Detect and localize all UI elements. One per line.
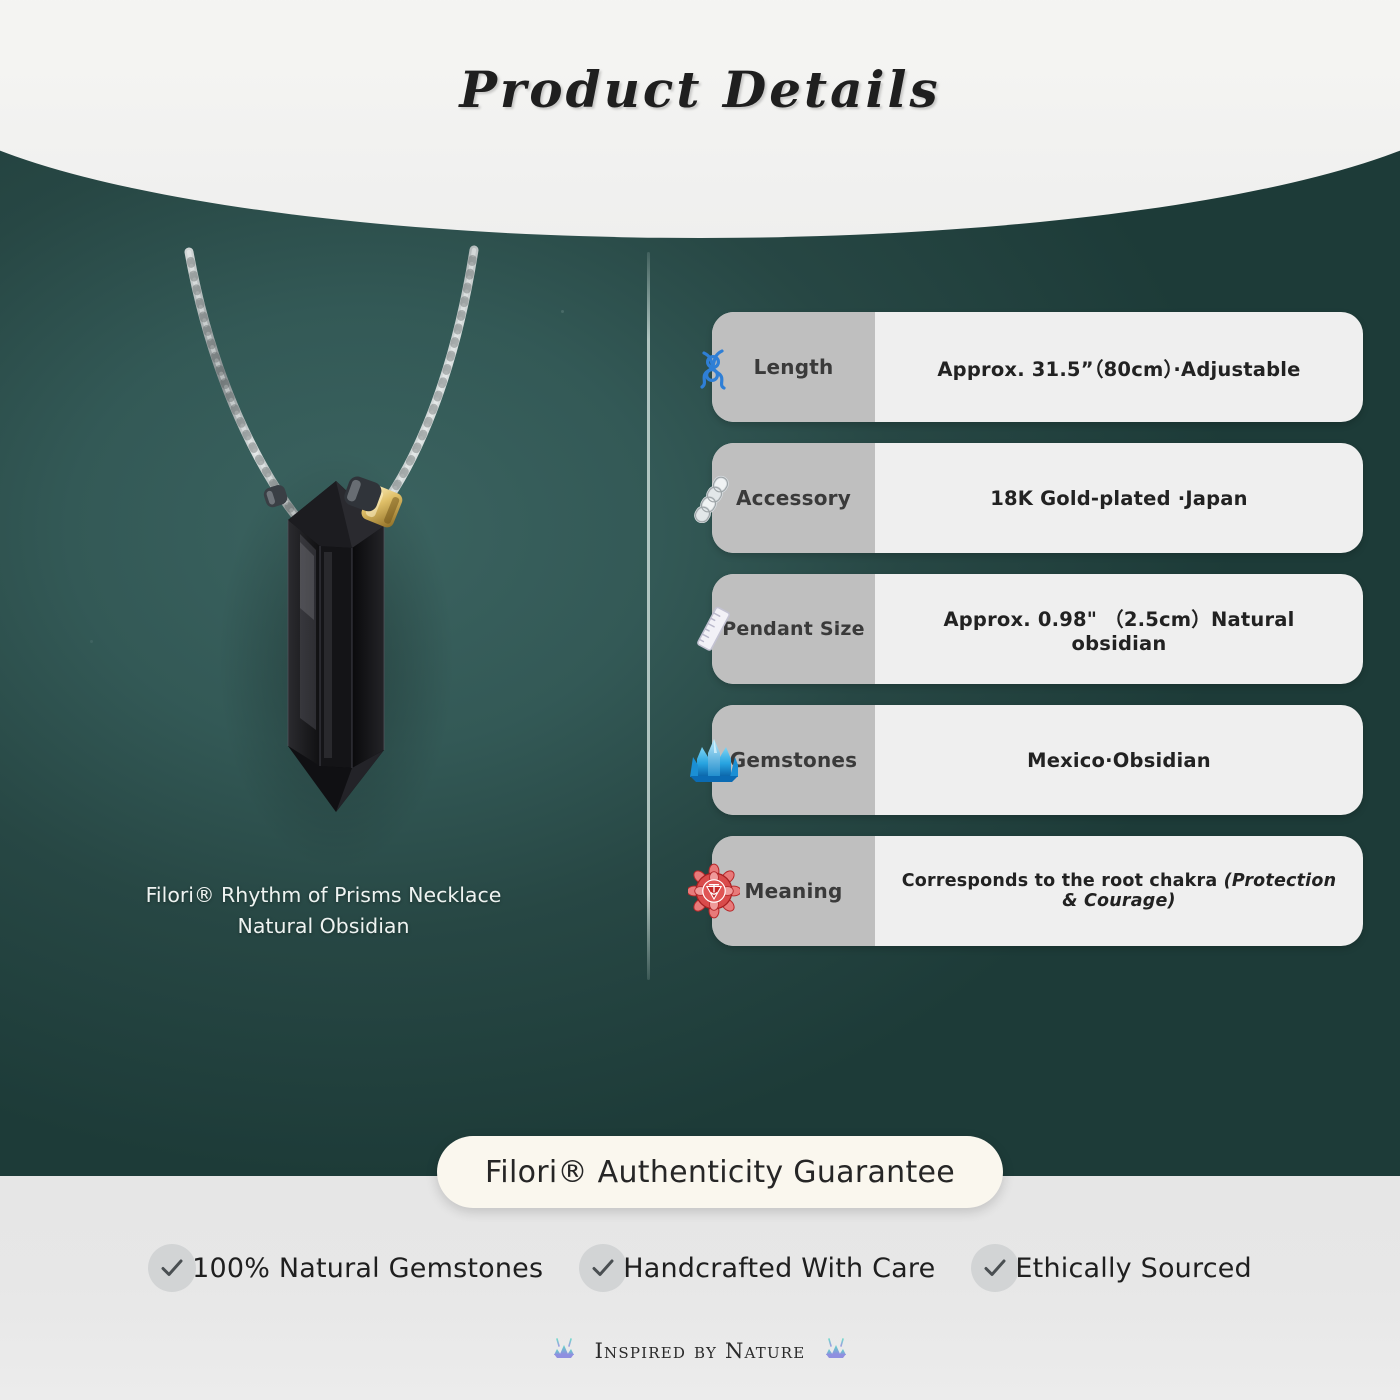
product-image-pane: Filori® Rhythm of Prisms Necklace Natura… (0, 190, 647, 990)
spec-row-meaning[interactable]: Meaning Corresponds to the root chakra (… (712, 836, 1363, 946)
product-caption: Filori® Rhythm of Prisms Necklace Natura… (0, 880, 647, 942)
caption-line-1: Filori® Rhythm of Prisms Necklace (0, 880, 647, 911)
spec-value: 18K Gold-plated ·Japan (990, 487, 1248, 510)
caption-line-2: Natural Obsidian (0, 911, 647, 942)
feature-label: Handcrafted With Care (623, 1253, 935, 1284)
vertical-divider (647, 252, 650, 980)
spec-row-gemstones[interactable]: Gemstones Mexico·Obsidian (712, 705, 1363, 815)
header-arc (0, 0, 1400, 238)
knot-cord-icon (688, 341, 740, 393)
feature-label: 100% Natural Gemstones (192, 1253, 543, 1284)
spec-row-accessory[interactable]: Accessory 18K Gold-plated ·Japan (712, 443, 1363, 553)
footer-label: Inspired by Nature (595, 1339, 806, 1363)
crystal-cluster-icon (688, 734, 740, 786)
footer: Inspired by Nature (0, 1336, 1400, 1366)
authenticity-banner[interactable]: Filori® Authenticity Guarantee (437, 1136, 1003, 1208)
feature-item: Ethically Sourced (971, 1244, 1252, 1292)
crystal-sprout-icon (821, 1336, 851, 1366)
check-icon (148, 1244, 196, 1292)
spec-value: Approx. 31.5”（80cm）·Adjustable (937, 353, 1300, 382)
feature-item: 100% Natural Gemstones (148, 1244, 543, 1292)
spec-label: Gemstones (730, 748, 858, 772)
feature-item: Handcrafted With Care (579, 1244, 935, 1292)
spec-value: Mexico·Obsidian (1027, 749, 1211, 772)
spec-row-pendant-size[interactable]: Pendant Size Approx. 0.98" （2.5cm）Natura… (712, 574, 1363, 684)
spec-value-block: 18K Gold-plated ·Japan (875, 443, 1363, 553)
check-icon (971, 1244, 1019, 1292)
spec-label: Meaning (744, 879, 842, 903)
spec-label: Length (754, 355, 834, 379)
spec-value: Corresponds to the root chakra (Protecti… (893, 871, 1345, 911)
root-chakra-icon (688, 865, 740, 917)
necklace-illustration (0, 190, 647, 910)
page-title: Product Details (0, 60, 1400, 119)
product-details-page: Filori® Rhythm of Prisms Necklace Natura… (0, 0, 1400, 1400)
check-icon (579, 1244, 627, 1292)
chain-link-icon (688, 472, 740, 524)
spec-row-length[interactable]: Length Approx. 31.5”（80cm）·Adjustable (712, 312, 1363, 422)
ruler-icon (688, 603, 740, 655)
spec-value-main: Corresponds to the root chakra (902, 871, 1218, 891)
crystal-sprout-icon (549, 1336, 579, 1366)
spec-value-block: Mexico·Obsidian (875, 705, 1363, 815)
spec-value-block: Approx. 31.5”（80cm）·Adjustable (875, 312, 1363, 422)
spec-value-block: Approx. 0.98" （2.5cm）Natural obsidian (875, 574, 1363, 684)
authenticity-label: Filori® Authenticity Guarantee (485, 1155, 955, 1190)
spec-list: Length Approx. 31.5”（80cm）·Adjustable (712, 312, 1363, 946)
spec-value: Approx. 0.98" （2.5cm）Natural obsidian (893, 603, 1345, 655)
feature-label: Ethically Sourced (1015, 1253, 1252, 1284)
feature-list: 100% Natural Gemstones Handcrafted With … (0, 1244, 1400, 1292)
spec-label: Pendant Size (722, 618, 865, 640)
spec-label: Accessory (736, 486, 851, 510)
spec-value-block: Corresponds to the root chakra (Protecti… (875, 836, 1363, 946)
